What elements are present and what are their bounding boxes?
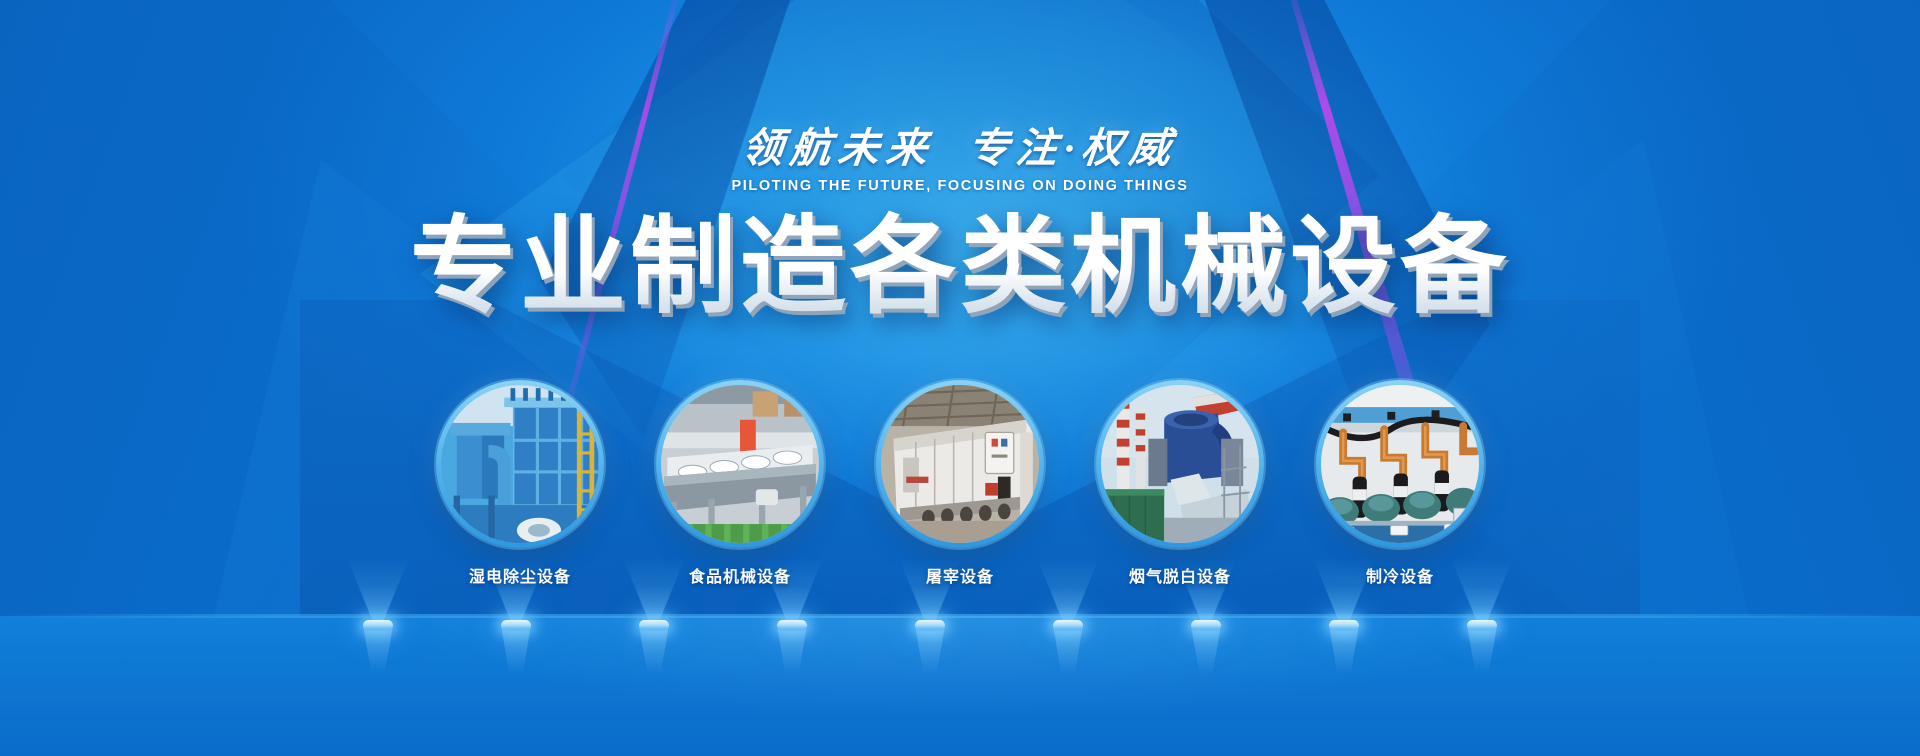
slaughter-equipment-photo (881, 385, 1039, 543)
food-processing-line-photo (661, 385, 819, 543)
page-title-char: 备 (1400, 205, 1510, 330)
product-caption: 制冷设备 (1316, 563, 1484, 587)
tagline-chinese: 领航未来专注·权威 (740, 126, 1180, 171)
product-caption: 烟气脱白设备 (1096, 563, 1264, 587)
product-caption: 屠宰设备 (876, 563, 1044, 587)
tagline-chinese-left: 领航未来 (740, 125, 937, 171)
page-title-char: 专 (410, 205, 520, 330)
thumbnail-ring (436, 380, 604, 548)
tagline-english: PILOTING THE FUTURE, FOCUSING ON DOING T… (0, 178, 1920, 194)
thumbnail-ring (1316, 380, 1484, 548)
tagline-chinese-right: 专注·权威 (966, 125, 1180, 171)
thumbnail-ring (656, 380, 824, 548)
product-thumbnail-food-machinery[interactable]: 食品机械设备 (656, 380, 824, 587)
tagline-block: 领航未来专注·权威 PILOTING THE FUTURE, FOCUSING … (0, 126, 1920, 194)
product-thumbnail-row: 湿电除尘设备 (0, 380, 1920, 587)
product-thumbnail-wet-esp[interactable]: 湿电除尘设备 (436, 380, 604, 587)
product-caption: 食品机械设备 (656, 563, 824, 587)
promo-banner: 领航未来专注·权威 PILOTING THE FUTURE, FOCUSING … (0, 0, 1920, 756)
thumbnail-ring (1096, 380, 1264, 548)
banner-content: 领航未来专注·权威 PILOTING THE FUTURE, FOCUSING … (0, 0, 1920, 756)
refrigeration-compressor-unit-photo (1321, 385, 1479, 543)
page-title-char: 类 (960, 205, 1070, 330)
wet-electrostatic-precipitator-photo (441, 385, 599, 543)
product-thumbnail-slaughter[interactable]: 屠宰设备 (876, 380, 1044, 587)
flue-gas-dewhitening-plant-photo (1101, 385, 1259, 543)
page-title-char: 械 (1180, 205, 1290, 330)
page-title-char: 制 (630, 205, 740, 330)
thumbnail-ring (876, 380, 1044, 548)
page-title-char: 设 (1290, 205, 1400, 330)
page-title-char: 造 (740, 205, 850, 330)
product-thumbnail-refrigeration[interactable]: 制冷设备 (1316, 380, 1484, 587)
page-title: 专业制造各类机械设备 (0, 205, 1920, 330)
page-title-char: 各 (850, 205, 960, 330)
product-caption: 湿电除尘设备 (436, 563, 604, 587)
product-thumbnail-flue-gas[interactable]: 烟气脱白设备 (1096, 380, 1264, 587)
page-title-char: 业 (520, 205, 630, 330)
page-title-char: 机 (1070, 205, 1180, 330)
